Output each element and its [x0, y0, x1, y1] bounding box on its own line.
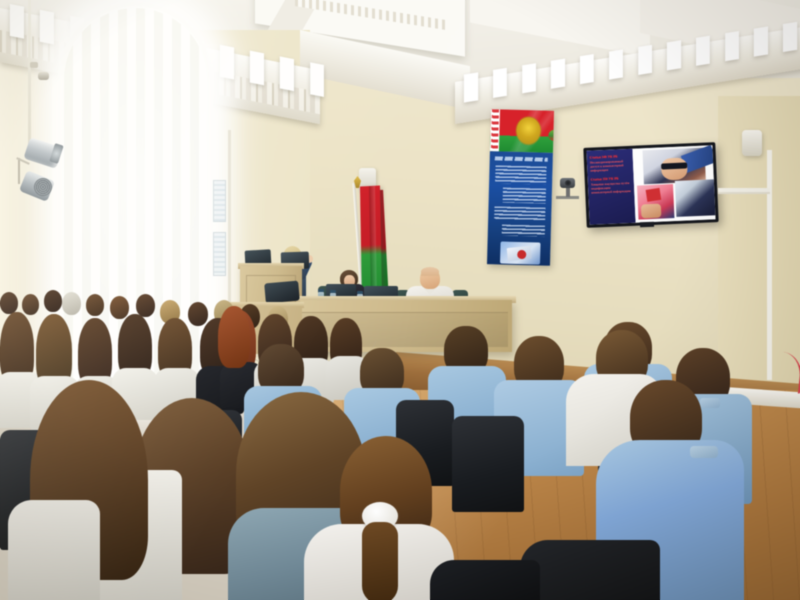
wall-vent-panel	[213, 232, 226, 276]
banner-paragraph	[503, 188, 546, 204]
wall-cable-conduit	[767, 150, 772, 380]
spotlight-cable	[18, 158, 20, 184]
lecture-hall-photo: Статья 349 УК РБ Несанкционированный дос…	[0, 0, 800, 600]
slide-body-2: Хищение имущества путём модификации комп…	[591, 181, 631, 195]
banner-paragraph	[502, 225, 545, 237]
student-white-shirt	[8, 500, 100, 600]
belarus-state-symbols-banner	[487, 109, 554, 266]
student-hair	[188, 302, 208, 326]
lighting-pole	[28, 0, 31, 160]
slide-photo-laptop	[675, 179, 716, 217]
seated-trousers	[520, 540, 660, 600]
bottle-cap	[318, 289, 324, 292]
seated-official-scalp	[421, 267, 439, 276]
slide-warning-mark	[646, 188, 662, 202]
bottle-cap	[357, 291, 363, 294]
banner-title-text	[495, 156, 548, 161]
slide-text-panel: Статья 349 УК РБ Несанкционированный дос…	[586, 149, 635, 225]
wall-vent-panel	[213, 180, 226, 222]
student-hair	[86, 294, 104, 316]
camera-lens-icon	[565, 180, 571, 186]
student-grey-hair	[62, 292, 81, 315]
seated-trousers	[430, 560, 540, 600]
student-hair	[44, 290, 62, 312]
red-cable	[764, 350, 800, 394]
slide-image-panel	[632, 145, 715, 222]
cadet-epaulette	[700, 398, 720, 408]
student-red-hair	[218, 306, 250, 368]
ponytail	[362, 522, 398, 600]
ceiling-sensor-icon	[38, 72, 49, 80]
student-hair	[110, 296, 129, 319]
tv-wall-bracket	[640, 222, 654, 228]
tv-screen: Статья 349 УК РБ Несанкционированный дос…	[586, 145, 715, 224]
auditorium-chair[interactable]	[452, 416, 524, 512]
slide-photo-sunglasses	[642, 148, 705, 185]
wall-speaker-right	[742, 130, 762, 156]
flag-ornament-pattern	[491, 109, 499, 151]
sunglasses-icon	[661, 162, 687, 169]
banner-flag-graphic	[490, 109, 554, 153]
presentation-display[interactable]: Статья 349 УК РБ Несанкционированный дос…	[583, 142, 718, 228]
presidium-monitor[interactable]	[264, 281, 300, 304]
bottle-cap	[330, 290, 336, 293]
banner-paragraph	[495, 165, 546, 184]
student-hair	[22, 294, 39, 315]
cadet-epaulette	[690, 446, 718, 458]
banner-text-body	[487, 151, 553, 266]
student-hair	[136, 294, 155, 317]
flag-ornament-strip	[490, 109, 500, 151]
ceiling-sensor-icon	[30, 62, 38, 68]
slide-photo-hand	[641, 204, 662, 219]
wall-cable-conduit-shadow	[718, 192, 770, 194]
banner-paragraph	[494, 206, 545, 221]
student-hair	[0, 292, 18, 314]
